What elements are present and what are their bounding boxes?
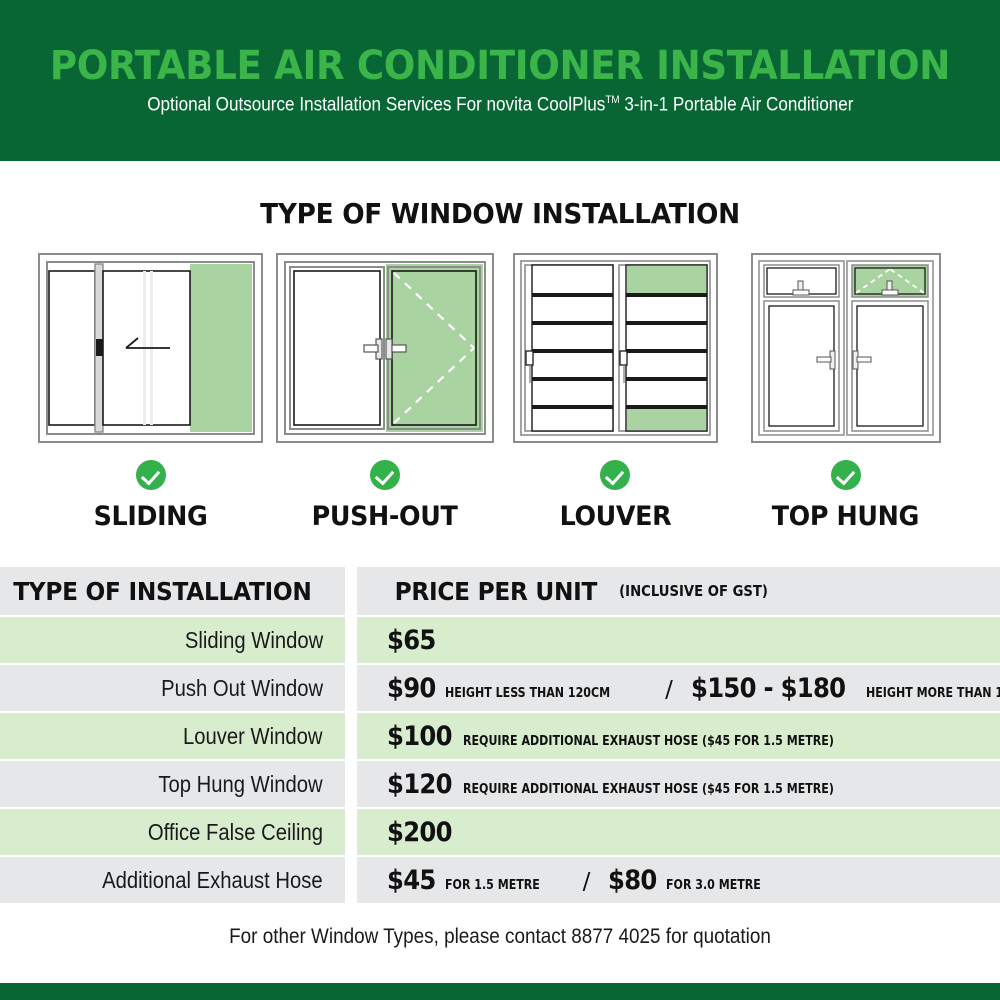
window-type-label: SLIDING [94,501,208,532]
column-divider [345,809,357,855]
footer-note: For other Window Types, please contact 8… [50,925,950,949]
column-divider [345,761,357,807]
louver-window-illustration [513,248,718,448]
row-price-note: REQUIRE ADDITIONAL EXHAUST HOSE ($45 FOR… [463,782,834,797]
row-type-label: Push Out Window [161,675,323,702]
check-circle-icon [831,460,861,490]
row-type-label: Additional Exhaust Hose [102,867,323,894]
row-type-label: Office False Ceiling [148,819,323,846]
table-header-price-note: (INCLUSIVE OF GST) [619,582,768,600]
window-type-label: LOUVER [559,501,671,532]
row-price-alt: $80 [608,865,657,896]
row-price-cell: $100 REQUIRE ADDITIONAL EXHAUST HOSE ($4… [357,713,1000,759]
table-header-price-label: PRICE PER UNIT [395,577,598,606]
pricing-table: TYPE OF INSTALLATION PRICE PER UNIT (INC… [0,567,1000,905]
check-circle-icon [136,460,166,490]
row-price-cell: $200 [357,809,1000,855]
row-type-label: Louver Window [183,723,323,750]
page-header: PORTABLE AIR CONDITIONER INSTALLATION Op… [0,0,1000,161]
row-type-cell: Top Hung Window [0,761,345,807]
row-price-cell: $45 FOR 1.5 METRE / $80 FOR 3.0 METRE [357,857,1000,903]
row-price-cell: $65 [357,617,1000,663]
window-types-row: SLIDING PUSH-OUT [0,248,1000,538]
row-price-separator: / [665,677,673,703]
window-type-sliding[interactable]: SLIDING [38,248,263,532]
subtitle-text-before: Optional Outsource Installation Services… [147,95,605,116]
table-header-row: TYPE OF INSTALLATION PRICE PER UNIT (INC… [0,567,1000,615]
section-title: TYPE OF WINDOW INSTALLATION [30,197,970,230]
row-price-note: REQUIRE ADDITIONAL EXHAUST HOSE ($45 FOR… [463,734,834,749]
row-price-main: $45 [387,865,436,896]
column-divider [345,567,357,613]
top-hung-window-illustration [751,248,941,448]
table-row: Louver Window $100 REQUIRE ADDITIONAL EX… [0,713,1000,759]
row-type-label: Sliding Window [185,627,323,654]
sliding-window-illustration [38,248,263,448]
row-price-main: $120 [387,769,452,800]
row-price-cell: $120 REQUIRE ADDITIONAL EXHAUST HOSE ($4… [357,761,1000,807]
column-divider [345,857,357,903]
bottom-accent-bar [0,983,1000,1000]
window-type-louver[interactable]: LOUVER [510,248,720,532]
row-price-alt-note: HEIGHT MORE THAN 120CM [866,686,1000,701]
row-type-cell: Office False Ceiling [0,809,345,855]
row-type-cell: Louver Window [0,713,345,759]
subtitle-text-after: 3-in-1 Portable Air Conditioner [619,95,853,116]
window-type-top-hung[interactable]: TOP HUNG [748,248,943,532]
table-row: Sliding Window $65 [0,617,1000,663]
row-price-note: FOR 1.5 METRE [445,878,540,893]
table-row: Top Hung Window $120 REQUIRE ADDITIONAL … [0,761,1000,807]
row-price-alt: $150 - $180 [691,673,845,704]
page-subtitle: Optional Outsource Installation Services… [147,95,853,114]
row-price-main: $65 [387,625,436,656]
trademark-symbol: TM [605,94,619,106]
row-price-main: $100 [387,721,452,752]
column-divider [345,713,357,759]
table-row: Office False Ceiling $200 [0,809,1000,855]
table-row: Additional Exhaust Hose $45 FOR 1.5 METR… [0,857,1000,903]
row-price-separator: / [583,869,591,895]
row-type-cell: Push Out Window [0,665,345,711]
check-circle-icon [370,460,400,490]
row-price-note: HEIGHT LESS THAN 120CM [445,686,610,701]
table-header-cell-type: TYPE OF INSTALLATION [0,567,345,615]
row-price-cell: $90 HEIGHT LESS THAN 120CM / $150 - $180… [357,665,1000,711]
row-price-main: $200 [387,817,452,848]
column-divider [345,665,357,711]
window-type-label: PUSH-OUT [312,501,458,532]
check-circle-icon [600,460,630,490]
table-row: Push Out Window $90 HEIGHT LESS THAN 120… [0,665,1000,711]
table-header-type-label: TYPE OF INSTALLATION [13,577,311,606]
page-title: PORTABLE AIR CONDITIONER INSTALLATION [50,46,950,86]
window-type-label: TOP HUNG [772,501,919,532]
push-out-window-illustration [276,248,494,448]
row-price-alt-note: FOR 3.0 METRE [666,878,761,893]
row-type-cell: Sliding Window [0,617,345,663]
column-divider [345,617,357,663]
window-type-push-out[interactable]: PUSH-OUT [272,248,497,532]
row-type-label: Top Hung Window [159,771,323,798]
table-header-cell-price: PRICE PER UNIT (INCLUSIVE OF GST) [357,567,1000,615]
row-type-cell: Additional Exhaust Hose [0,857,345,903]
row-price-main: $90 [387,673,436,704]
